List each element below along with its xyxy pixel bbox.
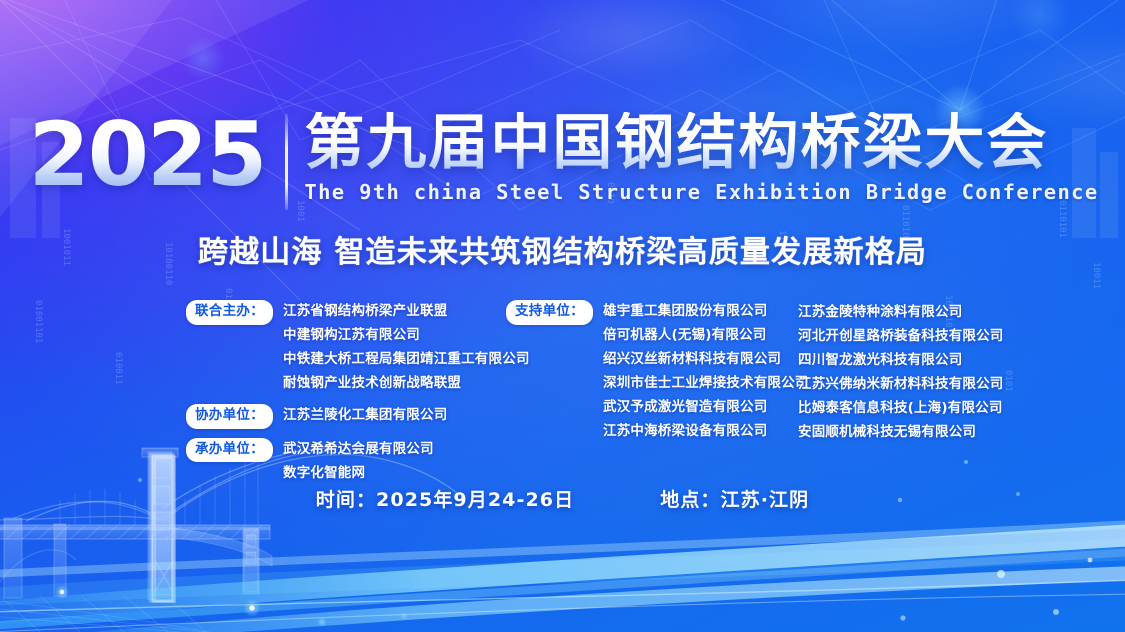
co-organizer-label: 协办单位： — [186, 404, 273, 429]
credit-group-undertaker: 承办单位： 武汉希希达会展有限公司 数字化智能网 — [186, 437, 506, 485]
credit-group-supporters: 支持单位： 雄宇重工集团股份有限公司 倍可机器人(无锡)有限公司 绍兴汉丝新材料… — [506, 299, 798, 443]
undertaker-label: 承办单位： — [186, 438, 273, 463]
banner-header: 2025 第九届中国钢结构桥梁大会 The 9th china Steel St… — [0, 112, 1125, 271]
undertaker-list: 武汉希希达会展有限公司 数字化智能网 — [283, 437, 434, 485]
credit-group-co-organizer: 协办单位： 江苏兰陵化工集团有限公司 — [186, 403, 506, 429]
co-organizer-list: 江苏兰陵化工集团有限公司 — [283, 403, 447, 427]
list-item: 比姆泰客信息科技(上海)有限公司 — [798, 396, 1033, 420]
credits-block: 联合主办： 江苏省钢结构桥梁产业联盟 中建钢构江苏有限公司 中铁建大桥工程局集团… — [186, 299, 1036, 493]
list-item: 四川智龙激光科技有限公司 — [798, 348, 1033, 372]
event-location: 地点：江苏·江阴 — [660, 485, 809, 512]
list-item: 武汉予成激光智造有限公司 — [603, 395, 809, 419]
credits-column-left: 联合主办： 江苏省钢结构桥梁产业联盟 中建钢构江苏有限公司 中铁建大桥工程局集团… — [186, 299, 506, 493]
joint-host-label: 联合主办： — [186, 300, 273, 325]
list-item: 安固顺机械科技无锡有限公司 — [798, 420, 1033, 444]
conference-title-en: The 9th china Steel Structure Exhibition… — [304, 180, 1098, 204]
list-item: 雄宇重工集团股份有限公司 — [603, 299, 809, 323]
list-item: 绍兴汉丝新材料科技有限公司 — [603, 347, 809, 371]
list-item: 江苏兴佛纳米新材料科技有限公司 — [798, 372, 1033, 396]
credits-column-right: 江苏金陵特种涂料有限公司 河北开创星路桥装备科技有限公司 四川智龙激光科技有限公… — [798, 299, 1033, 444]
list-item: 江苏省钢结构桥梁产业联盟 — [283, 299, 530, 323]
joint-host-list: 江苏省钢结构桥梁产业联盟 中建钢构江苏有限公司 中铁建大桥工程局集团靖江重工有限… — [283, 299, 530, 395]
conference-title-cn: 第九届中国钢结构桥梁大会 — [304, 112, 1098, 174]
list-item: 河北开创星路桥装备科技有限公司 — [798, 324, 1033, 348]
conference-slogan: 跨越山海 智造未来共筑钢结构桥梁高质量发展新格局 — [198, 227, 927, 271]
supporters-extra-list: 江苏金陵特种涂料有限公司 河北开创星路桥装备科技有限公司 四川智龙激光科技有限公… — [798, 300, 1033, 444]
credits-column-middle: 支持单位： 雄宇重工集团股份有限公司 倍可机器人(无锡)有限公司 绍兴汉丝新材料… — [506, 299, 798, 451]
credit-group-joint-host: 联合主办： 江苏省钢结构桥梁产业联盟 中建钢构江苏有限公司 中铁建大桥工程局集团… — [186, 299, 506, 395]
list-item: 江苏金陵特种涂料有限公司 — [798, 300, 1033, 324]
list-item: 江苏兰陵化工集团有限公司 — [283, 403, 447, 427]
list-item: 深圳市佳士工业焊接技术有限公司 — [603, 371, 809, 395]
list-item: 数字化智能网 — [283, 461, 434, 485]
list-item: 江苏中海桥梁设备有限公司 — [603, 419, 809, 443]
supporters-label: 支持单位： — [506, 300, 593, 325]
supporters-list: 雄宇重工集团股份有限公司 倍可机器人(无锡)有限公司 绍兴汉丝新材料科技有限公司… — [603, 299, 809, 443]
event-date: 时间：2025年9月24-26日 — [316, 485, 574, 512]
list-item: 中铁建大桥工程局集团靖江重工有限公司 — [283, 347, 530, 371]
list-item: 倍可机器人(无锡)有限公司 — [603, 323, 809, 347]
year-2025: 2025 — [26, 112, 267, 198]
list-item: 耐蚀钢产业技术创新战略联盟 — [283, 371, 530, 395]
list-item: 武汉希希达会展有限公司 — [283, 437, 434, 461]
title-row: 2025 第九届中国钢结构桥梁大会 The 9th china Steel St… — [26, 112, 1098, 210]
title-block: 第九届中国钢结构桥梁大会 The 9th china Steel Structu… — [304, 112, 1098, 204]
list-item: 中建钢构江苏有限公司 — [283, 323, 530, 347]
footer-info: 时间：2025年9月24-26日 地点：江苏·江阴 — [0, 485, 1125, 512]
conference-banner: 01001101 1001011 010011 10100110 0110101… — [0, 0, 1125, 632]
title-divider — [285, 114, 288, 210]
